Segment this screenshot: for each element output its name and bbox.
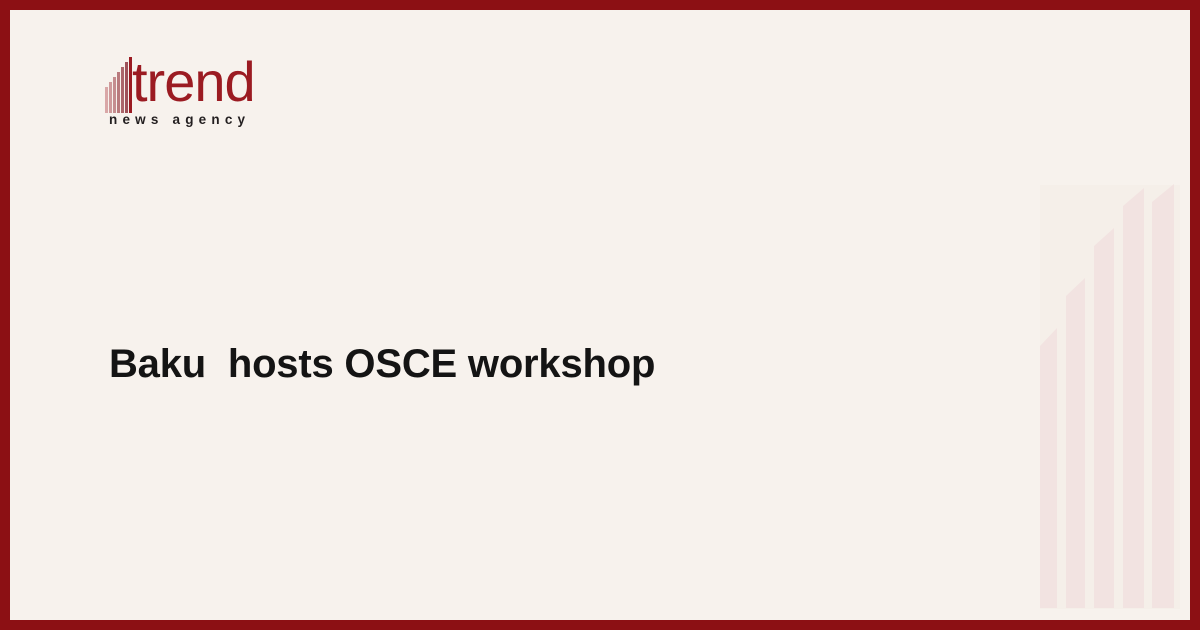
logo-bar — [117, 72, 120, 113]
logo-wordmark: trend — [132, 54, 255, 110]
logo-tagline: news agency — [109, 112, 250, 128]
page-title: Baku hosts OSCE workshop — [109, 339, 969, 389]
watermark-bar — [1152, 184, 1174, 608]
watermark-bar — [1123, 188, 1144, 608]
logo-bar — [125, 62, 128, 113]
watermark-bar — [1094, 228, 1114, 608]
logo-bar — [121, 67, 124, 113]
logo-bar — [109, 82, 112, 113]
watermark-background-block — [1040, 185, 1180, 609]
logo-bar — [113, 77, 116, 113]
logo-bar — [105, 87, 108, 113]
share-card: trend news agency Baku hosts OSCE worksh… — [0, 0, 1200, 630]
ascending-bars-watermark-icon — [1030, 175, 1180, 609]
trend-news-agency-logo[interactable]: trend news agency — [105, 55, 280, 140]
watermark-bar — [1040, 328, 1057, 608]
watermark-bar — [1066, 278, 1085, 608]
